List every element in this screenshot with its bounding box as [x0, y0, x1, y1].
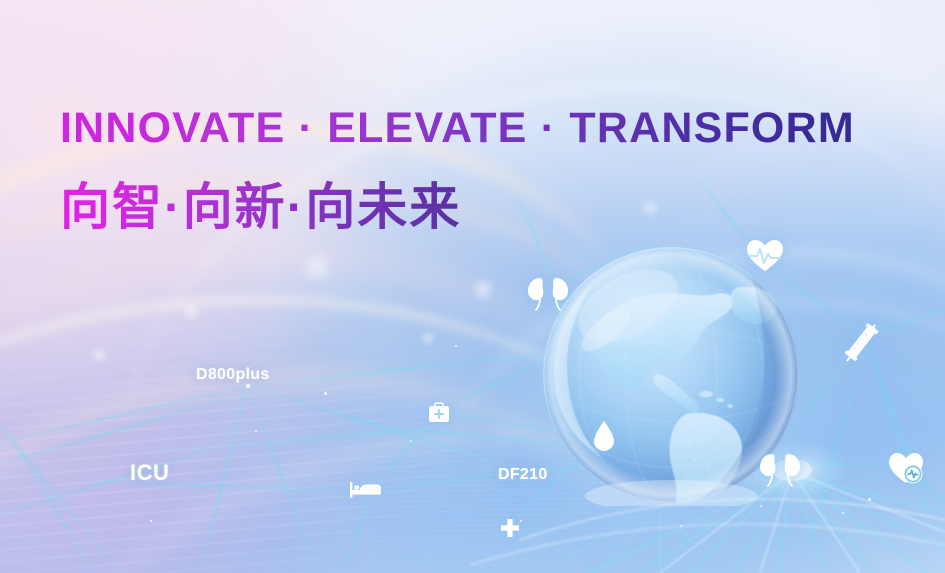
hero-banner: INNOVATE · ELEVATE · TRANSFORM 向智·向新·向未来… — [0, 0, 945, 573]
medical-bag-icon — [428, 402, 450, 424]
heart-monitor-icon — [888, 452, 924, 486]
label-df210: DF210 — [498, 466, 548, 484]
medical-cross-icon — [500, 518, 520, 538]
label-d800plus: D800plus — [196, 366, 270, 384]
heart-pulse-icon — [746, 239, 784, 273]
subheadline: 向智·向新·向未来 — [60, 167, 461, 239]
hospital-bed-icon — [350, 480, 382, 500]
kidneys-icon — [526, 272, 570, 312]
kidneys-icon — [758, 448, 802, 488]
headline: INNOVATE · ELEVATE · TRANSFORM — [60, 104, 855, 153]
label-icu: ICU — [130, 460, 169, 486]
blood-drop-icon — [592, 420, 616, 452]
